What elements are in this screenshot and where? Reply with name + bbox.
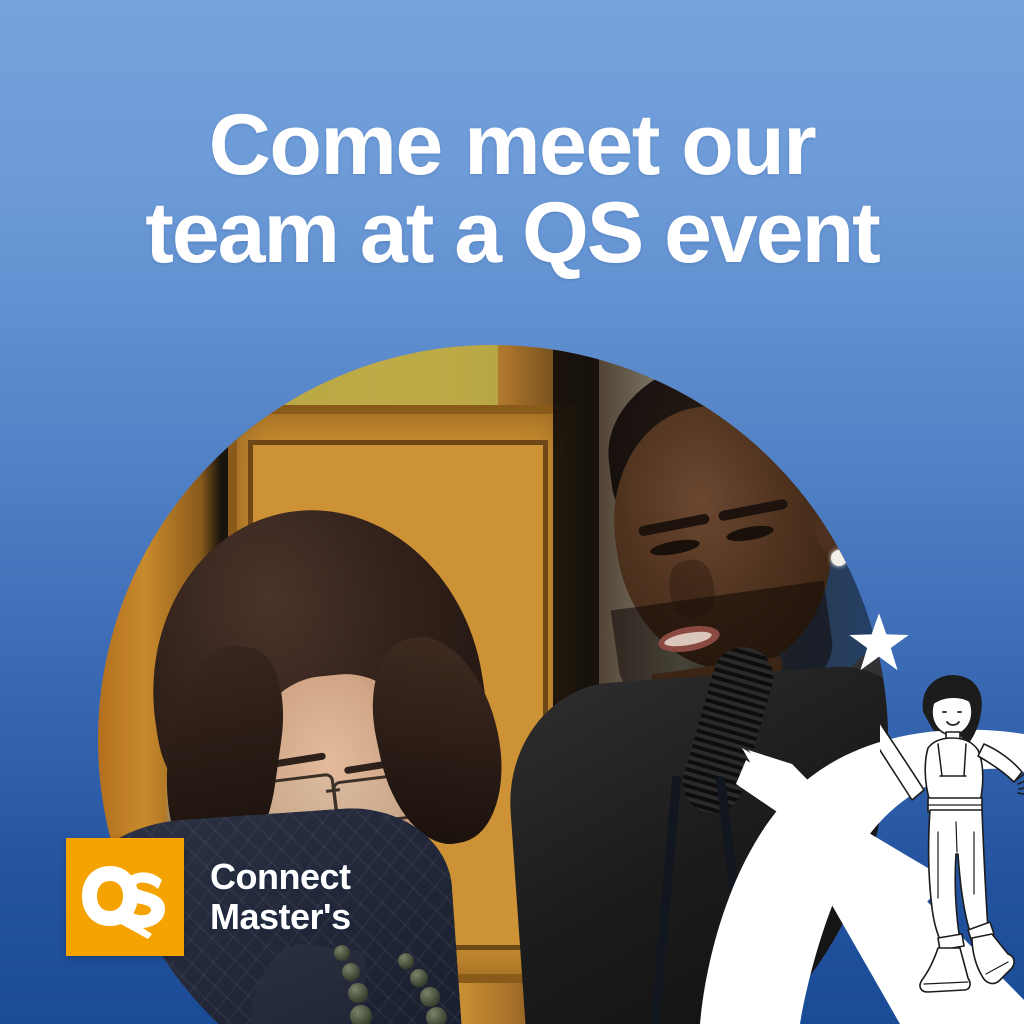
necklace-bead [350, 1005, 372, 1024]
necklace-bead [410, 969, 428, 987]
illustrated-woman [880, 672, 1024, 1024]
star-shape [849, 613, 909, 670]
brand-lockup: QS Connect Master's [66, 838, 351, 956]
qs-logo: QS [66, 838, 184, 956]
qs-logo-mark [66, 838, 184, 956]
promo-graphic: Come meet our team at a QS event [0, 0, 1024, 1024]
brand-name: Connect Master's [210, 857, 351, 938]
necklace-bead [398, 953, 414, 969]
figure-arm-open [978, 744, 1022, 782]
necklace-bead [342, 963, 360, 981]
earring [831, 550, 847, 566]
figure-shoe-left [920, 948, 970, 992]
necklace-bead [348, 983, 368, 1003]
necklace-bead [420, 987, 440, 1007]
page-title: Come meet our team at a QS event [0, 102, 1024, 277]
necklace-bead [426, 1007, 447, 1024]
man-bomber-jacket [502, 661, 888, 1024]
brand-line-2: Master's [210, 897, 351, 937]
figure-arm-raised [880, 720, 924, 800]
brand-line-1: Connect [210, 857, 351, 897]
wall-plaque [248, 345, 498, 405]
figure-shoe-right [972, 934, 1014, 983]
figure-torso [925, 738, 983, 802]
headline-line-1: Come meet our [0, 102, 1024, 190]
star-icon [848, 612, 910, 674]
headline-line-2: team at a QS event [0, 190, 1024, 278]
